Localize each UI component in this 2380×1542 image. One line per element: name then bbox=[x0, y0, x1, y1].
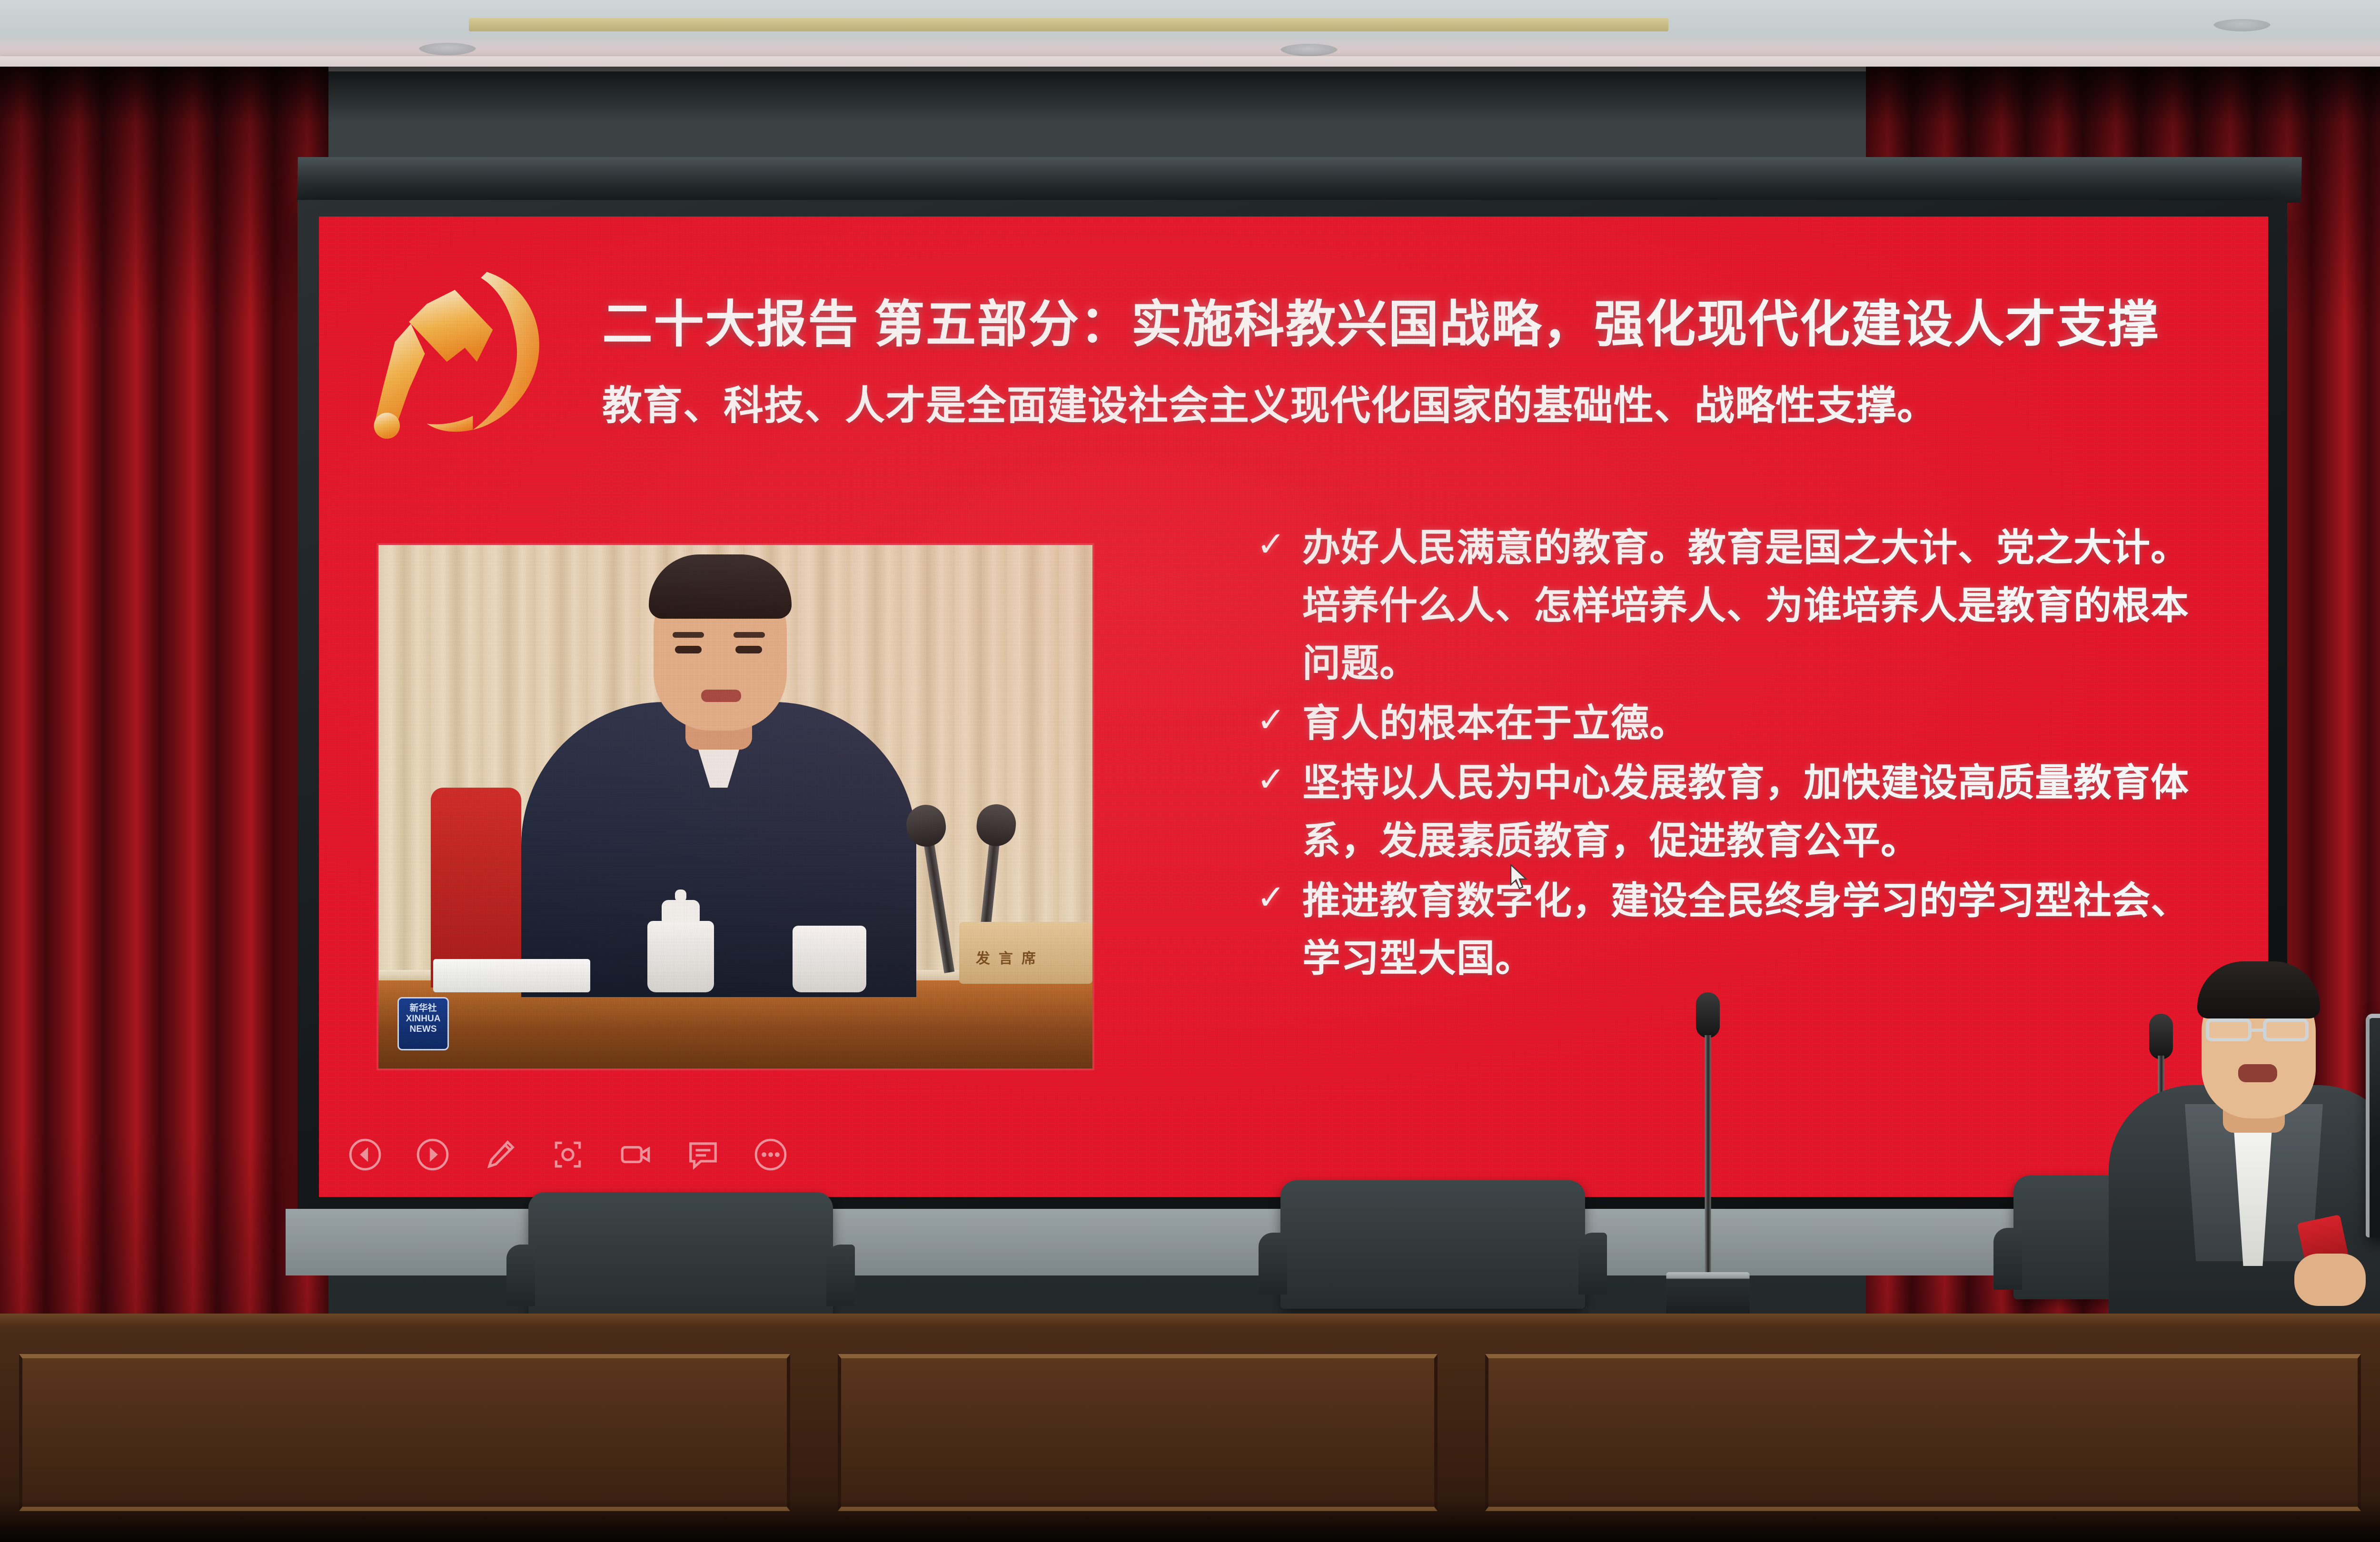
table-microphone bbox=[1666, 992, 1749, 1316]
slide-bullet-list: ✓ 办好人民满意的教育。教育是国之大计、党之大计。培养什么人、怎样培养人、为谁培… bbox=[1257, 519, 2199, 989]
presenter-person bbox=[2109, 933, 2380, 1352]
chair bbox=[528, 1192, 833, 1316]
desk-shadow bbox=[0, 1499, 2380, 1542]
led-presentation-screen[interactable]: 二十大报告 第五部分：实施科教兴国战略，强化现代化建设人才支撑 教育、科技、人才… bbox=[319, 217, 2268, 1197]
photo-name-plate-text: 发言席 bbox=[976, 947, 1078, 968]
laser-pointer-icon[interactable] bbox=[550, 1137, 585, 1172]
photo-watermark: 新华社 XINHUA NEWS bbox=[397, 997, 449, 1050]
eyeglasses bbox=[2206, 1018, 2251, 1041]
list-item: ✓ 推进教育数字化，建设全民终身学习的学习型社会、学习型大国。 bbox=[1257, 872, 2199, 988]
check-icon: ✓ bbox=[1257, 754, 1302, 806]
list-item: ✓ 育人的根本在于立德。 bbox=[1257, 694, 2199, 752]
previous-slide-icon[interactable] bbox=[347, 1137, 383, 1172]
check-icon: ✓ bbox=[1257, 872, 1302, 924]
eyeglasses bbox=[2263, 1018, 2309, 1041]
screen-bezel-top bbox=[297, 157, 2302, 203]
desktop-monitor: Lenovo bbox=[2366, 1014, 2380, 1237]
cpc-party-emblem-icon bbox=[369, 250, 569, 450]
photo-tea-cup bbox=[647, 921, 714, 992]
ceiling-spotlight bbox=[2213, 19, 2271, 31]
mouse-cursor bbox=[1509, 864, 1528, 890]
list-item: ✓ 坚持以人民为中心发展教育，加快建设高质量教育体系，发展素质教育，促进教育公平… bbox=[1257, 754, 2199, 870]
conference-room: 二十大报告 第五部分：实施科教兴国战略，强化现代化建设人才支撑 教育、科技、人才… bbox=[0, 0, 2380, 1542]
check-icon: ✓ bbox=[1257, 694, 1302, 746]
pen-icon[interactable] bbox=[483, 1137, 518, 1172]
photo-chair bbox=[431, 788, 521, 988]
screen-share-icon[interactable] bbox=[618, 1137, 653, 1172]
slide-canvas: 二十大报告 第五部分：实施科教兴国战略，强化现代化建设人才支撑 教育、科技、人才… bbox=[319, 217, 2268, 1197]
desk-panel bbox=[838, 1354, 1438, 1511]
ceiling-spotlight bbox=[419, 43, 476, 55]
bullet-text: 推进教育数字化，建设全民终身学习的学习型社会、学习型大国。 bbox=[1302, 872, 2199, 988]
ceiling-spotlight bbox=[1280, 44, 1338, 56]
list-item: ✓ 办好人民满意的教育。教育是国之大计、党之大计。培养什么人、怎样培养人、为谁培… bbox=[1257, 519, 2199, 692]
notes-icon[interactable] bbox=[685, 1137, 721, 1172]
bullet-text: 办好人民满意的教育。教育是国之大计、党之大计。培养什么人、怎样培养人、为谁培养人… bbox=[1302, 519, 2199, 692]
slide-title: 二十大报告 第五部分：实施科教兴国战略，强化现代化建设人才支撑 bbox=[602, 283, 2230, 356]
photo-water-glass bbox=[793, 926, 866, 992]
check-icon: ✓ bbox=[1257, 519, 1302, 571]
slide-photo: 发言席 新华社 XINHUA NEWS bbox=[378, 545, 1092, 1068]
photo-papers bbox=[433, 959, 590, 992]
more-options-icon[interactable] bbox=[753, 1137, 788, 1172]
bullet-text: 育人的根本在于立德。 bbox=[1302, 694, 1688, 752]
desk-panel bbox=[19, 1354, 790, 1511]
ceiling-light-fixture bbox=[469, 18, 1668, 31]
bullet-text: 坚持以人民为中心发展教育，加快建设高质量教育体系，发展素质教育，促进教育公平。 bbox=[1302, 754, 2199, 870]
chair bbox=[1280, 1180, 1585, 1309]
slide-subtitle: 教育、科技、人才是全面建设社会主义现代化国家的基础性、战略性支撑。 bbox=[602, 374, 2230, 431]
presentation-toolbar[interactable] bbox=[347, 1137, 788, 1172]
desk-panel bbox=[1485, 1354, 2361, 1511]
next-slide-icon[interactable] bbox=[415, 1137, 450, 1172]
